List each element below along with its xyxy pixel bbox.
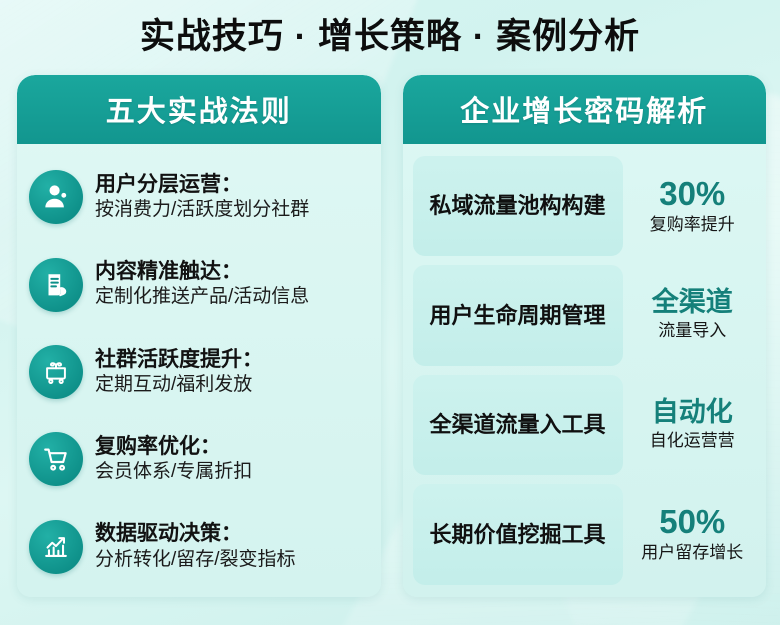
row-stat: 全渠道 流量导入 [629,265,757,366]
document-push-icon [29,258,83,312]
stat-caption: 自化运营营 [650,430,735,452]
page-title: 实战技巧 · 增长策略 · 案例分析 [0,0,780,57]
stat-caption: 复购率提升 [650,214,735,236]
table-row[interactable]: 用户生命周期管理 全渠道 流量导入 [413,265,757,366]
poster-root: 实战技巧 · 增长策略 · 案例分析 五大实战法则 用户分层运营： [0,0,780,625]
rule-text: 数据驱动决策： 分析转化/留存/裂变指标 [95,521,296,572]
row-label: 私域流量池构构建 [413,156,623,257]
rule-list: 用户分层运营： 按消费力/活跃度划分社群 内容精准触达： 定 [17,144,381,597]
left-panel-header: 五大实战法则 [17,75,381,144]
rule-text: 社群活跃度提升： 定期互动/福利发放 [95,347,263,398]
row-stat: 自动化 自化运营营 [629,375,757,476]
rule-title: 复购率优化： [95,434,252,460]
right-panel-header: 企业增长密码解析 [403,75,767,144]
shopping-cart-icon [29,432,83,486]
stat-value: 30% [659,176,725,212]
rule-desc: 分析转化/留存/裂变指标 [95,548,296,573]
stat-caption: 用户留存增长 [641,542,743,564]
rule-title: 内容精准触达： [95,259,309,285]
user-icon [29,170,83,224]
bar-chart-growth-icon [29,520,83,574]
rule-text: 复购率优化： 会员体系/专属折扣 [95,434,252,485]
row-stat: 50% 用户留存增长 [629,484,757,585]
right-panel: 企业增长密码解析 私域流量池构构建 30% 复购率提升 用户生命周期管理 全渠道… [403,75,767,597]
list-item[interactable]: 数据驱动决策： 分析转化/留存/裂变指标 [29,519,371,575]
rule-desc: 定期互动/福利发放 [95,373,263,398]
row-label: 用户生命周期管理 [413,265,623,366]
rule-text: 内容精准触达： 定制化推送产品/活动信息 [95,259,309,310]
table-row[interactable]: 私域流量池构构建 30% 复购率提升 [413,156,757,257]
panels-container: 五大实战法则 用户分层运营： 按消费力/活跃度划分社群 [0,57,780,597]
gift-cart-icon [29,345,83,399]
table-row[interactable]: 全渠道流量入工具 自动化 自化运营营 [413,375,757,476]
row-stat: 30% 复购率提升 [629,156,757,257]
rule-text: 用户分层运营： 按消费力/活跃度划分社群 [95,172,309,223]
stat-value: 全渠道 [652,288,733,318]
row-label: 全渠道流量入工具 [413,375,623,476]
list-item[interactable]: 内容精准触达： 定制化推送产品/活动信息 [29,257,371,313]
growth-code-list: 私域流量池构构建 30% 复购率提升 用户生命周期管理 全渠道 流量导入 全渠道… [403,144,767,597]
stat-value: 自动化 [652,398,733,428]
row-label: 长期价值挖掘工具 [413,484,623,585]
rule-title: 用户分层运营： [95,172,309,198]
rule-desc: 定制化推送产品/活动信息 [95,285,309,310]
table-row[interactable]: 长期价值挖掘工具 50% 用户留存增长 [413,484,757,585]
list-item[interactable]: 用户分层运营： 按消费力/活跃度划分社群 [29,169,371,225]
rule-title: 数据驱动决策： [95,521,296,547]
rule-title: 社群活跃度提升： [95,347,263,373]
stat-caption: 流量导入 [658,320,726,342]
left-panel: 五大实战法则 用户分层运营： 按消费力/活跃度划分社群 [17,75,381,597]
list-item[interactable]: 复购率优化： 会员体系/专属折扣 [29,431,371,487]
rule-desc: 会员体系/专属折扣 [95,460,252,485]
list-item[interactable]: 社群活跃度提升： 定期互动/福利发放 [29,344,371,400]
stat-value: 50% [659,504,725,540]
rule-desc: 按消费力/活跃度划分社群 [95,198,309,223]
